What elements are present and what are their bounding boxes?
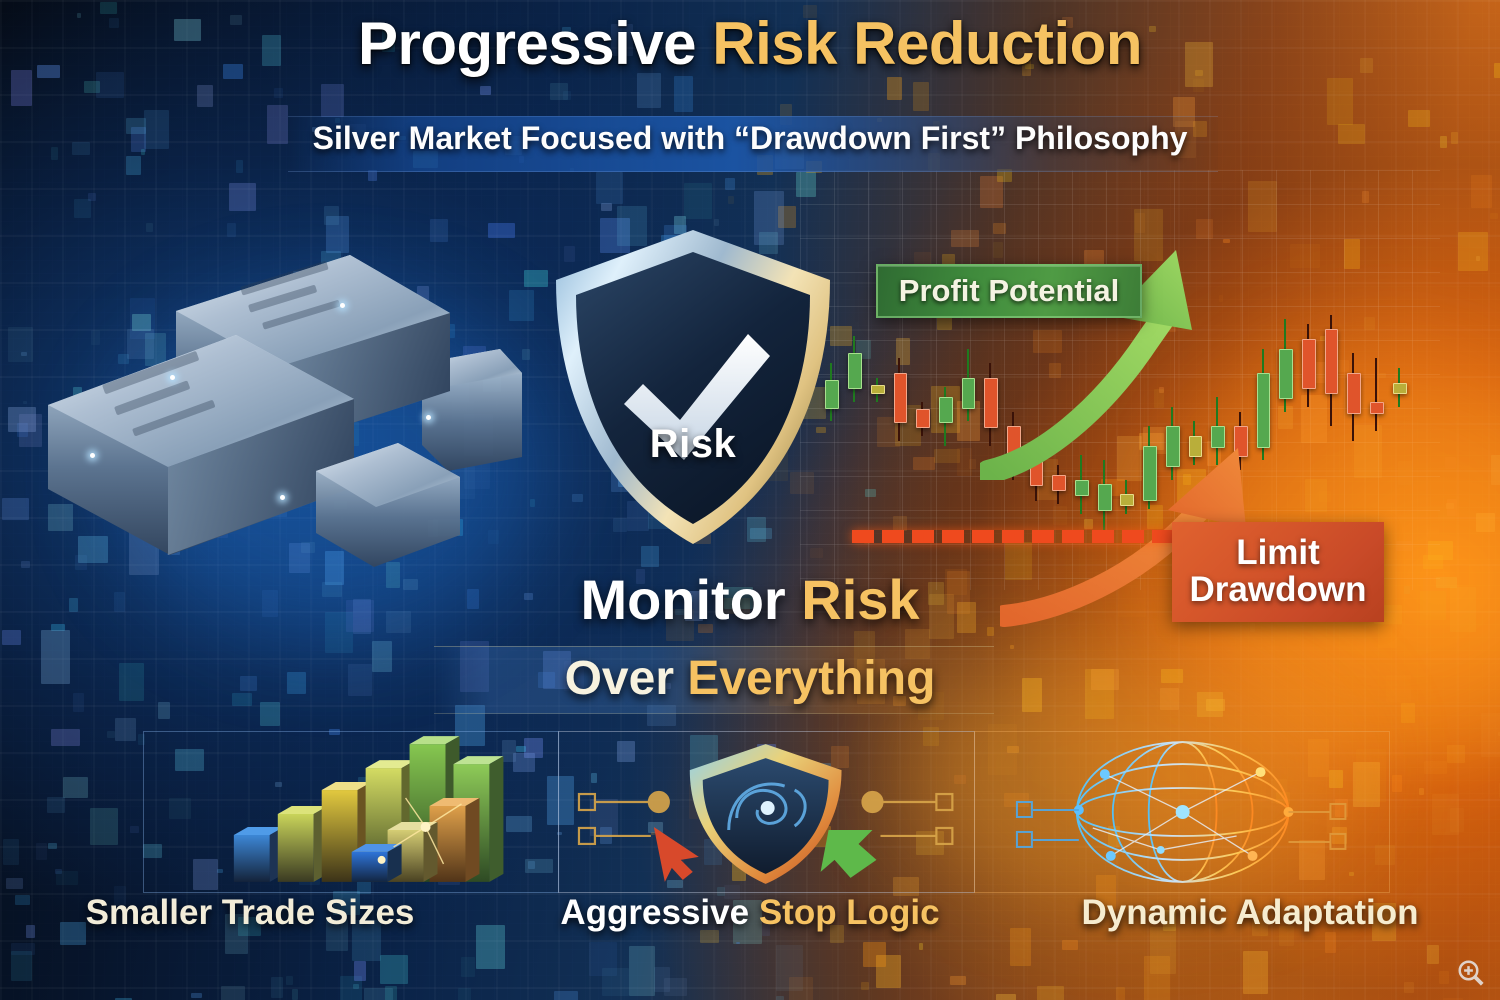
shield-check-icon [548,222,838,552]
pixel-block [1447,745,1465,763]
candle-body [825,380,839,409]
pixel-block [2,498,29,520]
pixel-block [725,178,735,190]
pixel-block [1491,455,1500,485]
pixel-block [996,994,1016,1000]
pixel-block [1493,501,1500,522]
candle-body [1143,446,1157,501]
pixel-block [63,777,87,798]
pillar-panel-aggressive-stop-logic[interactable] [558,731,974,893]
pixel-block [980,176,1003,208]
title-segment-risk-reduction: Risk Reduction [712,10,1142,77]
pixel-block [90,808,118,845]
pixel-block [629,946,655,996]
candle-body [871,385,885,394]
candle-body [1234,426,1248,457]
pixel-block [47,797,64,814]
pixel-block [1193,79,1204,92]
pixel-block [1392,775,1402,792]
candle-body [1370,402,1384,414]
candle-body [1279,349,1293,400]
pixel-block [236,160,243,173]
pixel-block [789,977,814,1000]
sparkle [426,415,431,420]
candle-body [1052,475,1066,492]
candlestick-chart [820,300,1410,550]
pixel-block [1223,239,1230,243]
caption-text: Dynamic Adaptation [1081,893,1418,932]
pixel-block [1447,499,1456,516]
pixel-block [274,88,282,97]
pixel-block [1428,541,1453,560]
silver-bars-svg [30,195,530,570]
pixel-block [654,967,670,992]
pixel-block [17,423,28,437]
pixel-block [292,989,298,1000]
pixel-block [321,84,344,116]
pixel-block [1438,510,1455,520]
pixel-block [6,878,23,889]
pixel-block [364,988,393,1000]
candle-body [1098,484,1112,510]
pixel-block [913,82,929,111]
pixel-block [684,183,712,219]
pixel-block [1490,213,1498,220]
pixel-block [191,993,202,999]
pixel-block [1424,761,1447,774]
candle-body [1120,494,1134,506]
page-subtitle: Silver Market Focused with “Drawdown Fir… [0,120,1500,157]
pixel-block [664,978,686,996]
pixel-block [776,945,802,991]
pixel-block [1135,213,1146,233]
pixel-block [602,968,629,995]
pixel-block [3,839,19,865]
candle-body [1393,383,1407,395]
infographic-canvas: Progressive Risk Reduction Silver Market… [0,0,1500,1000]
pillar-panel-row [143,731,1389,891]
pixel-block [11,70,32,106]
pixel-block [23,401,27,404]
sparkle [340,303,345,308]
pixel-block [530,499,535,507]
pixel-block [993,223,1006,234]
sparkle [90,453,95,458]
pixel-block [1134,209,1163,261]
caption-text-b: Stop Logic [759,893,940,932]
pixel-block [480,86,490,95]
pixel-block [861,982,870,990]
pixel-block [1344,239,1360,269]
risk-shield-badge: Risk [548,222,838,552]
candle-body [894,373,908,424]
pixel-block [130,826,139,834]
pixel-block [271,977,283,998]
pillar-caption-row: Smaller Trade Sizes Aggressive Stop Logi… [0,893,1500,951]
pixel-block [21,352,26,356]
candle-body [916,409,930,428]
pixel-block [1450,808,1464,833]
sparkle [280,495,285,500]
pixel-block [380,955,408,984]
title-segment-progressive: Progressive [358,10,712,77]
pixel-block [1010,645,1014,649]
pixel-block [550,83,568,100]
pixel-block [458,988,470,1000]
pixel-block [1471,175,1492,209]
pillar-panel-smaller-trade-sizes[interactable] [143,731,559,893]
pixel-block [1037,986,1063,1000]
pixel-block [887,77,902,100]
pixel-block [674,76,693,111]
pixel-block [340,976,362,1000]
pixel-block [950,976,966,985]
page-title: Progressive Risk Reduction [0,14,1500,74]
pillar-caption-aggressive-stop-logic: Aggressive Stop Logic [500,893,1000,951]
pixel-block [1476,256,1480,260]
pixel-block [385,986,397,1000]
pixel-block [56,871,79,885]
headline-segment-monitor: Monitor [580,568,801,631]
zoom-in-magnifier-icon[interactable] [1456,958,1486,988]
candle-body [1257,373,1271,448]
candle-body [1325,329,1339,394]
candle-body [1075,480,1089,497]
candle-body [1166,426,1180,467]
pixel-block [51,729,80,746]
candle-body [1189,436,1203,457]
caption-text-a: Aggressive [560,893,758,932]
pixel-block [637,73,661,108]
sparkle [170,375,175,380]
pixel-block [84,81,99,94]
candle-body [1030,455,1044,486]
pixel-block [197,85,213,106]
pixel-block [876,955,900,988]
pixel-block [596,172,623,204]
profit-potential-label: Profit Potential [899,273,1119,309]
pixel-block [993,242,1003,258]
pixel-block [601,203,612,211]
pixel-block [286,976,293,985]
pixel-block [1481,713,1500,757]
candle-body [1211,426,1225,447]
caption-text: Smaller Trade Sizes [86,893,415,932]
candle-body [1347,373,1361,414]
pixel-block [796,172,815,197]
pixel-block [1196,219,1212,238]
shield-eye-arrows-icon [559,732,973,892]
pixel-block [1116,987,1125,1000]
pixel-block [1290,244,1320,268]
pixel-block [126,156,141,175]
ascending-bar-chart-icon [144,732,558,892]
pixel-block [1419,788,1424,795]
candle-body [848,353,862,389]
pixel-block [1446,503,1454,509]
pixel-block [55,869,62,874]
candle-body [939,397,953,423]
candle-body [1007,426,1021,462]
statement-headline: Monitor Risk [0,567,1500,632]
pixel-block [115,718,136,741]
pixel-block [1243,951,1268,994]
pixel-block [100,2,117,14]
statement-subline: Over Everything [0,651,1500,706]
candle-wick [1375,358,1377,431]
headline-segment-risk: Risk [801,568,919,631]
pixel-block [1432,794,1458,835]
pixel-block [563,91,570,99]
pixel-block [554,991,579,1000]
pixel-block [96,72,123,98]
silver-bullion-bars-icon [30,195,530,570]
profit-potential-badge[interactable]: Profit Potential [876,264,1142,318]
pixel-block [1362,191,1368,202]
pixel-block [221,986,245,1000]
candle-body [984,378,998,429]
pixel-block [1476,513,1496,531]
pixel-block [951,230,978,247]
pillar-panel-dynamic-adaptation[interactable] [974,731,1390,893]
subline-segment-everything: Everything [687,652,935,705]
pixel-block [1404,982,1414,993]
pixel-block [11,951,32,981]
pillar-caption-smaller-trade-sizes: Smaller Trade Sizes [0,893,500,951]
pixel-block [1439,971,1450,984]
pillar-caption-dynamic-adaptation: Dynamic Adaptation [1000,893,1500,951]
pixel-block [1445,457,1456,470]
pixel-block [776,996,784,1000]
network-globe-icon [975,732,1389,892]
pixel-block [1248,181,1276,232]
pixel-block [107,731,115,738]
pixel-block [1458,232,1487,270]
pixel-block [1144,956,1170,1000]
subline-segment-over: Over [565,652,688,705]
pixel-block [353,984,359,989]
pixel-block [354,961,366,981]
pixel-block [36,843,47,860]
candle-body [1302,339,1316,390]
pixel-block [461,957,475,977]
pixel-block [48,843,57,849]
candle-body [962,378,976,409]
pixel-block [2,630,21,644]
shield-label: Risk [548,422,838,467]
pixel-block [728,196,734,204]
pixel-block [1327,78,1353,126]
pixel-block [1427,527,1439,537]
